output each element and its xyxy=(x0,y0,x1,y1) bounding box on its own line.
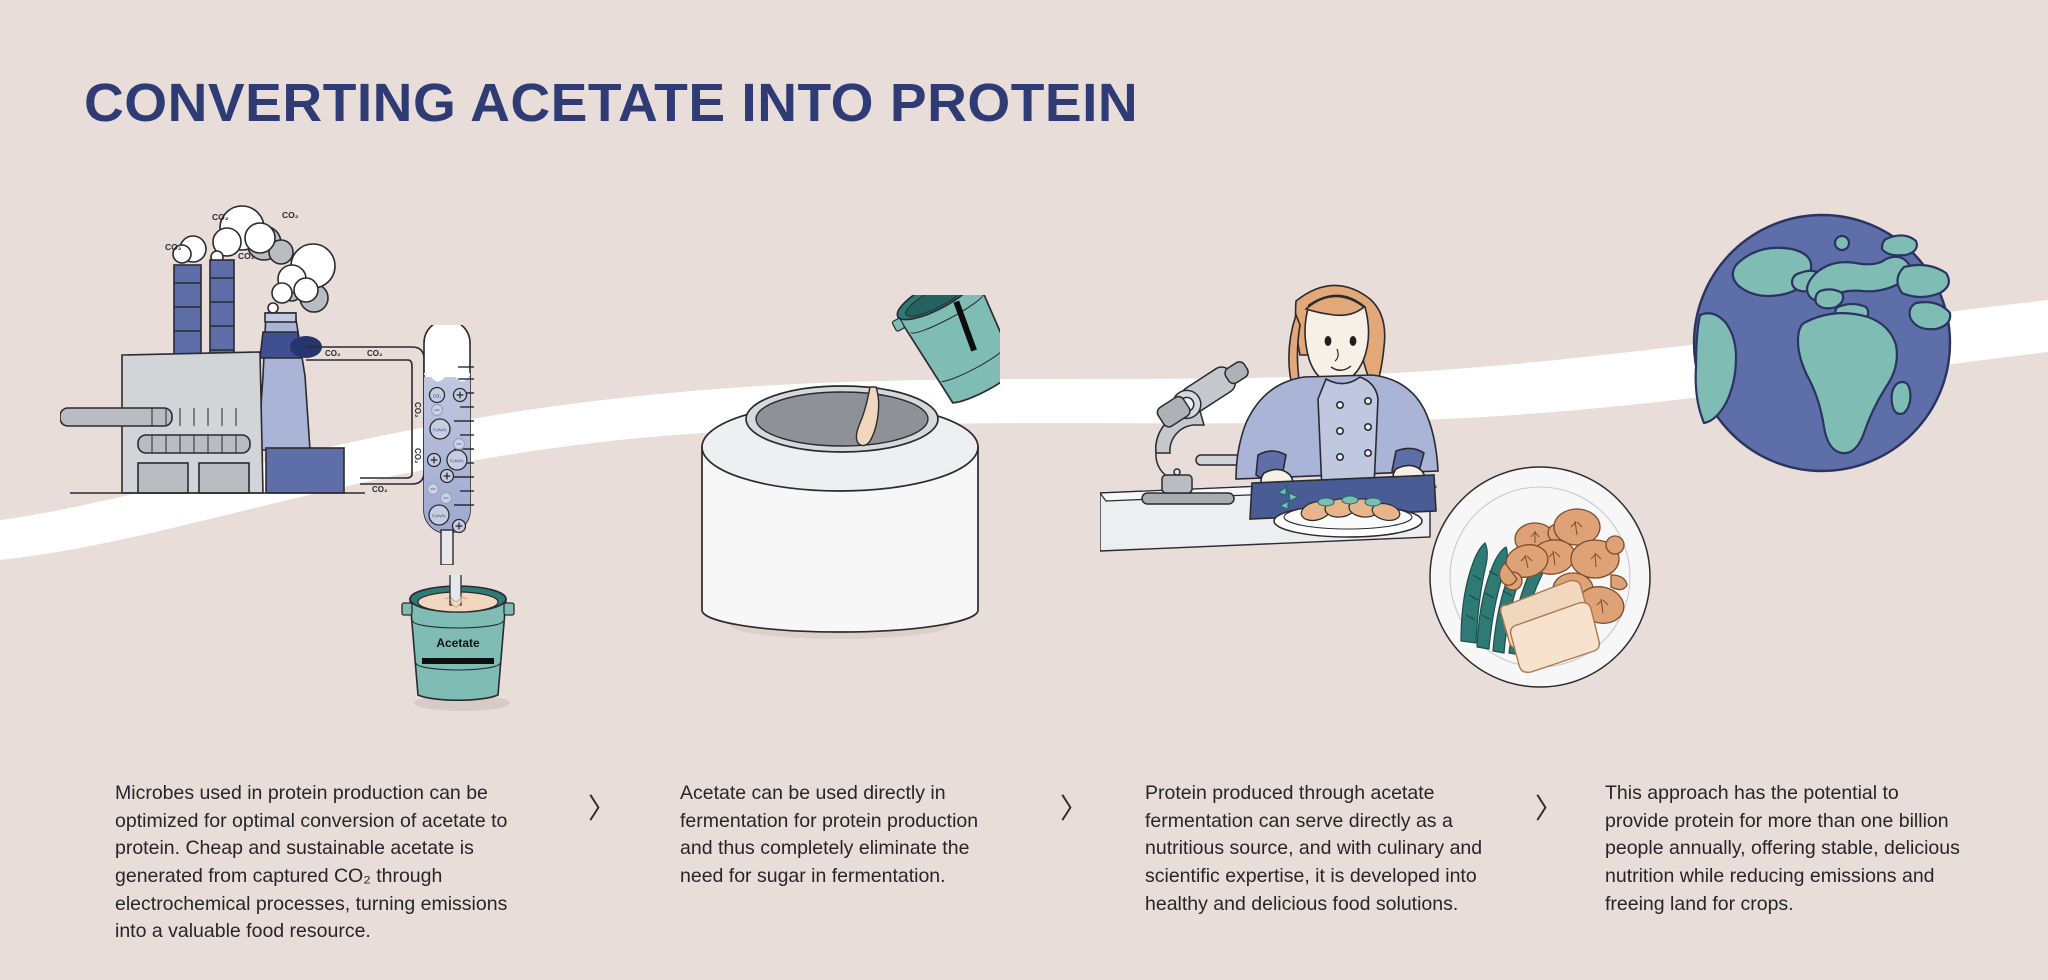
globe-illustration xyxy=(1690,195,1955,490)
bucket-label: Acetate xyxy=(436,636,480,650)
chef-and-microscope-illustration xyxy=(1100,265,1460,570)
caption-text-4: This approach has the potential to provi… xyxy=(1605,780,1965,918)
electrolyzer-tube-illustration: CO₂ C₂H₄O₂ C₂H₄O₂ C₂H₄O₂ xyxy=(380,325,520,565)
chevron-right-icon-1: 〉 xyxy=(588,796,616,824)
caption-column-3: Protein produced through acetate ferment… xyxy=(1145,780,1490,918)
caption-row: Microbes used in protein production can … xyxy=(0,780,2048,960)
caption-text-2: Acetate can be used directly in fermenta… xyxy=(680,780,990,891)
co2-label: CO₂ xyxy=(165,242,182,252)
caption-column-4: This approach has the potential to provi… xyxy=(1605,780,1965,918)
plated-food-illustration xyxy=(1425,465,1655,690)
caption-text-3: Protein produced through acetate ferment… xyxy=(1145,780,1490,918)
infographic-canvas: CONVERTING ACETATE INTO PROTEIN xyxy=(0,0,2048,980)
co2-label: CO₂ xyxy=(212,212,229,222)
caption-text-1: Microbes used in protein production can … xyxy=(115,780,515,946)
co2-bubble-label: CO₂ xyxy=(433,394,441,399)
co2-label: CO₂ xyxy=(325,349,341,358)
chevron-right-icon-2: 〉 xyxy=(1060,796,1088,824)
caption-column-2: Acetate can be used directly in fermenta… xyxy=(680,780,990,891)
co2-label: CO₂ xyxy=(282,210,299,220)
acetate-bubble-label: C₂H₄O₂ xyxy=(432,513,446,518)
fermentation-tank-illustration xyxy=(690,295,1000,655)
acetate-bucket-illustration: Acetate xyxy=(388,575,528,715)
chevron-right-icon-3: 〉 xyxy=(1535,796,1563,824)
caption-column-1: Microbes used in protein production can … xyxy=(115,780,515,946)
page-title: CONVERTING ACETATE INTO PROTEIN xyxy=(84,72,1138,134)
acetate-bubble-label: C₂H₄O₂ xyxy=(450,458,464,463)
acetate-bubble-label: C₂H₄O₂ xyxy=(433,427,447,432)
co2-label: CO₂ xyxy=(238,251,255,261)
